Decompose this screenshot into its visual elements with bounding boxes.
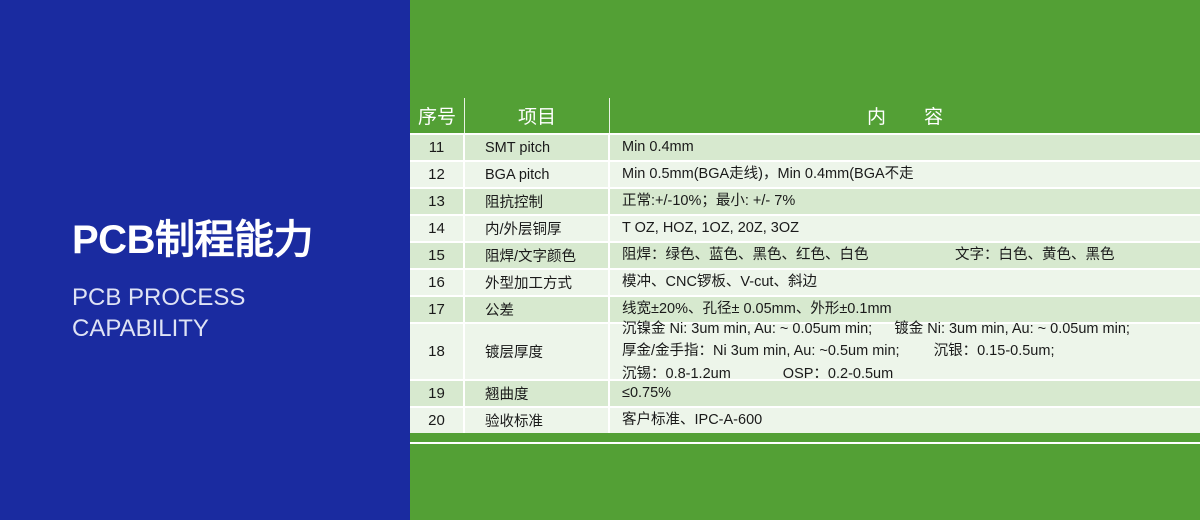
plating-osp: OSP：0.2-0.5um (783, 366, 893, 382)
page-title: PCB制程能力 (72, 218, 402, 263)
row-item: 阻焊/文字颜色 (465, 243, 610, 268)
plating-gold: 镀金 Ni: 3um min, Au: ~ 0.05um min; (894, 321, 1130, 337)
row-content: 客户标准、IPC-A-600 (610, 408, 1200, 433)
row-item: 镀层厚度 (465, 324, 610, 379)
content-line: 沉镍金 Ni: 3um min, Au: ~ 0.05um min;镀金 Ni:… (622, 318, 1200, 340)
table-row: 18 镀层厚度 沉镍金 Ni: 3um min, Au: ~ 0.05um mi… (410, 322, 1200, 379)
table-row: 12 BGA pitch Min 0.5mm(BGA走线)，Min 0.4mm(… (410, 160, 1200, 187)
title-block: PCB制程能力 PCB PROCESS CAPABILITY (72, 218, 402, 344)
row-content: T OZ, HOZ, 1OZ, 20Z, 3OZ (610, 216, 1200, 241)
column-header-item: 项目 (465, 98, 610, 133)
row-number: 16 (410, 270, 465, 295)
content-line: Min 0.5mm(BGA走线)，Min 0.4mm(BGA不走 (622, 163, 1200, 185)
content-line: Min 0.4mm (622, 136, 1200, 158)
row-content: 阻焊：绿色、蓝色、黑色、红色、白色 文字：白色、黄色、黑色 (610, 243, 1200, 268)
table-row: 14 内/外层铜厚 T OZ, HOZ, 1OZ, 20Z, 3OZ (410, 214, 1200, 241)
row-item: 外型加工方式 (465, 270, 610, 295)
row-number: 17 (410, 297, 465, 322)
content-line: 阻焊：绿色、蓝色、黑色、红色、白色 文字：白色、黄色、黑色 (622, 244, 1200, 266)
plating-silver: 沉银：0.15-0.5um; (934, 343, 1055, 359)
content-line: 客户标准、IPC-A-600 (622, 409, 1200, 431)
row-number: 15 (410, 243, 465, 268)
table-row: 19 翘曲度 ≤0.75% (410, 379, 1200, 406)
left-title-panel: PCB制程能力 PCB PROCESS CAPABILITY (0, 0, 410, 520)
table-header-row: 序号 项目 内 容 (410, 98, 1200, 133)
plating-hard-gold: 厚金/金手指：Ni 3um min, Au: ~0.5um min; (622, 343, 900, 359)
table-row: 20 验收标准 客户标准、IPC-A-600 (410, 406, 1200, 433)
content-segment-silkscreen: 文字：白色、黄色、黑色 (955, 244, 1115, 266)
row-number: 11 (410, 135, 465, 160)
row-number: 12 (410, 162, 465, 187)
row-number: 14 (410, 216, 465, 241)
row-number: 18 (410, 324, 465, 379)
row-content: ≤0.75% (610, 381, 1200, 406)
row-content: 正常:+/-10%；最小: +/- 7% (610, 189, 1200, 214)
row-item: 验收标准 (465, 408, 610, 433)
row-content: 模冲、CNC锣板、V-cut、斜边 (610, 270, 1200, 295)
content-line: T OZ, HOZ, 1OZ, 20Z, 3OZ (622, 217, 1200, 239)
row-item: 公差 (465, 297, 610, 322)
row-number: 20 (410, 408, 465, 433)
row-content: Min 0.5mm(BGA走线)，Min 0.4mm(BGA不走 (610, 162, 1200, 187)
row-item: 翘曲度 (465, 381, 610, 406)
content-line: 厚金/金手指：Ni 3um min, Au: ~0.5um min;沉银：0.1… (622, 340, 1200, 362)
column-header-content: 内 容 (610, 98, 1200, 133)
plating-tin: 沉锡：0.8-1.2um (622, 366, 731, 382)
row-content: Min 0.4mm (610, 135, 1200, 160)
plating-enig: 沉镍金 Ni: 3um min, Au: ~ 0.05um min; (622, 321, 872, 337)
table-row: 16 外型加工方式 模冲、CNC锣板、V-cut、斜边 (410, 268, 1200, 295)
column-header-no: 序号 (410, 98, 465, 133)
slide-root: PCB制程能力 PCB PROCESS CAPABILITY 序号 项目 内 容… (0, 0, 1200, 520)
row-item: BGA pitch (465, 162, 610, 187)
table-row: 15 阻焊/文字颜色 阻焊：绿色、蓝色、黑色、红色、白色 文字：白色、黄色、黑色 (410, 241, 1200, 268)
content-line: 正常:+/-10%；最小: +/- 7% (622, 190, 1200, 212)
row-item: SMT pitch (465, 135, 610, 160)
row-item: 内/外层铜厚 (465, 216, 610, 241)
table-row: 11 SMT pitch Min 0.4mm (410, 133, 1200, 160)
content-line: 模冲、CNC锣板、V-cut、斜边 (622, 271, 1200, 293)
spec-table: 序号 项目 内 容 11 SMT pitch Min 0.4mm 12 BGA … (410, 98, 1200, 433)
row-content: 沉镍金 Ni: 3um min, Au: ~ 0.05um min;镀金 Ni:… (610, 324, 1200, 379)
row-number: 19 (410, 381, 465, 406)
content-segment-solder-mask: 阻焊：绿色、蓝色、黑色、红色、白色 (622, 244, 955, 266)
table-bottom-divider (410, 442, 1200, 444)
page-subtitle: PCB PROCESS CAPABILITY (72, 283, 312, 344)
content-line: ≤0.75% (622, 382, 1200, 404)
row-number: 13 (410, 189, 465, 214)
row-item: 阻抗控制 (465, 189, 610, 214)
table-row: 13 阻抗控制 正常:+/-10%；最小: +/- 7% (410, 187, 1200, 214)
